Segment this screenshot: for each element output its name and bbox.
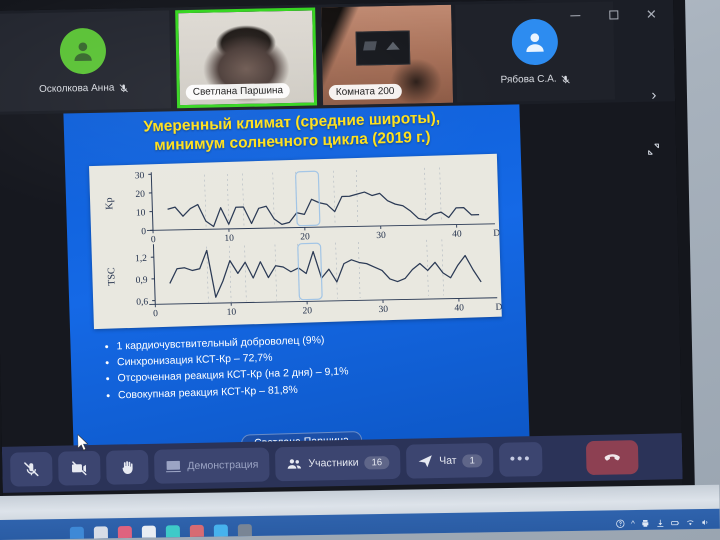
svg-text:20: 20 [302,306,312,316]
svg-text:Days: Days [495,302,501,313]
end-call-icon [602,447,622,467]
raise-hand-icon [119,459,135,475]
svg-text:10: 10 [136,208,146,218]
printer-icon [641,519,650,528]
svg-text:0: 0 [141,227,146,237]
laptop-photo: ✕ Осколкова Анна [0,0,720,540]
taskbar-icon[interactable] [238,524,252,536]
svg-text:20: 20 [135,189,145,199]
svg-text:20: 20 [300,232,310,242]
share-screen-button[interactable]: Демонстрация [154,447,270,483]
participants-icon [286,456,302,472]
svg-text:30: 30 [135,171,145,181]
taskbar-icon[interactable] [70,527,84,539]
share-screen-label: Демонстрация [187,459,258,472]
svg-text:1,2: 1,2 [135,254,147,264]
tray-chevron-icon[interactable]: ^ [631,519,635,528]
participant-name-row: Осколкова Анна [0,81,171,95]
chevron-right-icon: › [651,86,656,103]
participant-tile-parshina[interactable]: Светлана Паршина [175,7,317,108]
svg-text:40: 40 [452,229,462,239]
toolbar-spacer [549,458,581,459]
laptop-screen-frame: ✕ Осколкова Анна [0,0,695,521]
more-options-button[interactable]: ••• [498,442,542,477]
taskbar-icon[interactable] [166,525,180,537]
taskbar-icon[interactable] [190,525,204,537]
participant-tile-room200[interactable]: Комната 200 [321,5,453,106]
chat-label: Чат [439,455,457,467]
participant-tile-osolkova[interactable]: Осколкова Анна [0,10,171,111]
camera-off-icon [71,460,87,476]
participant-name-row: Рябова С.А. [457,72,615,86]
svg-text:40: 40 [454,303,464,313]
taskbar-icon[interactable] [142,526,156,538]
room-screen [355,31,410,65]
system-tray: ^ [616,518,710,528]
help-icon [616,519,625,528]
avatar [511,19,558,66]
taskbar-icon[interactable] [118,526,132,538]
participants-label: Участники [308,457,358,470]
svg-text:10: 10 [227,307,237,317]
chart-canvas: 0102030Kp010203040Days0,60,91,2TSC010203… [89,153,502,328]
participants-button[interactable]: Участники 16 [275,445,400,481]
expand-icon [645,141,660,156]
video-meeting-window: ✕ Осколкова Анна [0,0,683,499]
close-button[interactable]: ✕ [643,6,659,22]
expand-view-button[interactable] [642,137,664,159]
send-chat-icon [417,453,433,469]
chart-figure: 0102030Kp010203040Days0,60,91,2TSC010203… [89,153,502,328]
taskbar-icon[interactable] [214,524,228,536]
next-participants-button[interactable]: › [643,83,665,105]
minimize-button[interactable] [567,7,583,23]
participant-name: Светлана Паршина [186,83,291,100]
svg-text:0: 0 [151,235,156,245]
participant-name: Рябова С.А. [500,74,556,86]
shared-slide[interactable]: Умеренный климат (средние широты), миним… [63,98,529,462]
taskbar-icon[interactable] [94,526,108,538]
volume-icon [701,518,710,527]
mic-off-icon [561,74,571,84]
svg-text:30: 30 [376,231,386,241]
end-call-button[interactable] [586,440,639,475]
raise-hand-button[interactable] [106,450,149,485]
chat-count: 1 [462,454,482,467]
svg-text:0,9: 0,9 [136,275,148,285]
screen-share-icon [165,458,181,474]
slide-bullet-list: 1 кардиочувствительный доброволец (9%) С… [104,326,528,404]
participant-name: Осколкова Анна [39,82,115,95]
participant-name: Комната 200 [329,84,402,100]
battery-icon [671,518,680,527]
svg-text:Kp: Kp [104,197,115,210]
svg-text:30: 30 [378,305,388,315]
window-controls: ✕ [567,6,659,24]
mic-off-icon [118,83,128,93]
svg-text:TSC: TSC [106,267,118,286]
mic-toggle-button[interactable] [10,452,53,487]
mouse-cursor [78,434,90,456]
participants-count: 16 [364,456,389,469]
avatar [60,28,107,75]
screen-content: ✕ Осколкова Анна [0,0,683,499]
download-icon [656,519,665,528]
svg-text:Days: Days [493,228,502,239]
chat-button[interactable]: Чат 1 [406,443,493,479]
mic-off-icon [23,461,39,477]
maximize-button[interactable] [605,6,621,22]
svg-text:10: 10 [224,233,234,243]
svg-text:0: 0 [153,309,158,319]
wifi-icon [686,518,695,527]
svg-text:0,6: 0,6 [136,297,148,307]
